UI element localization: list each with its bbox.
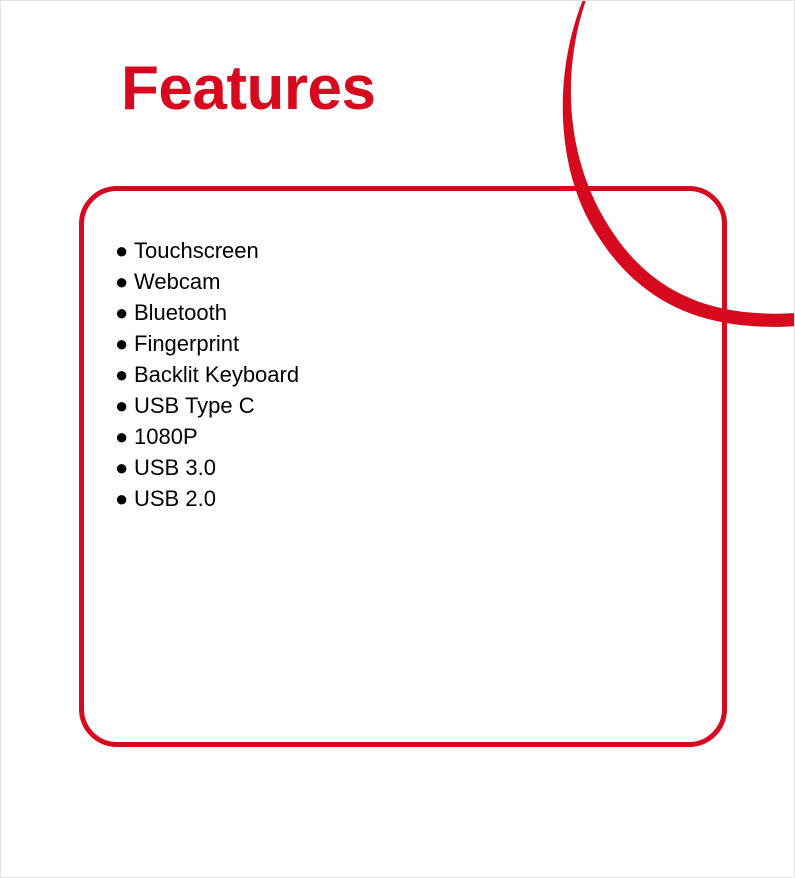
bullet-icon: ●	[115, 359, 128, 390]
page-title: Features	[121, 58, 375, 120]
bullet-icon: ●	[115, 235, 128, 266]
list-item: ● USB 3.0	[115, 452, 299, 483]
list-item-label: Touchscreen	[134, 238, 259, 263]
bullet-icon: ●	[115, 266, 128, 297]
list-item-label: Bluetooth	[134, 300, 227, 325]
list-item-label: 1080P	[134, 424, 198, 449]
bullet-icon: ●	[115, 390, 128, 421]
list-item: ● 1080P	[115, 421, 299, 452]
list-item-label: USB 3.0	[134, 455, 216, 480]
slide-canvas: Features ● Touchscreen ● Webcam ● Blueto…	[0, 0, 795, 878]
list-item-label: Fingerprint	[134, 331, 239, 356]
list-item: ● Fingerprint	[115, 328, 299, 359]
list-item: ● Backlit Keyboard	[115, 359, 299, 390]
list-item: ● Webcam	[115, 266, 299, 297]
list-item-label: USB Type C	[134, 393, 255, 418]
bullet-icon: ●	[115, 297, 128, 328]
bullet-icon: ●	[115, 452, 128, 483]
list-item: ● USB Type C	[115, 390, 299, 421]
list-item: ● USB 2.0	[115, 483, 299, 514]
bullet-icon: ●	[115, 421, 128, 452]
list-item-label: USB 2.0	[134, 486, 216, 511]
list-item: ● Touchscreen	[115, 235, 299, 266]
bullet-icon: ●	[115, 328, 128, 359]
bullet-icon: ●	[115, 483, 128, 514]
feature-list: ● Touchscreen ● Webcam ● Bluetooth ● Fin…	[115, 235, 299, 514]
list-item-label: Webcam	[134, 269, 220, 294]
list-item-label: Backlit Keyboard	[134, 362, 299, 387]
list-item: ● Bluetooth	[115, 297, 299, 328]
